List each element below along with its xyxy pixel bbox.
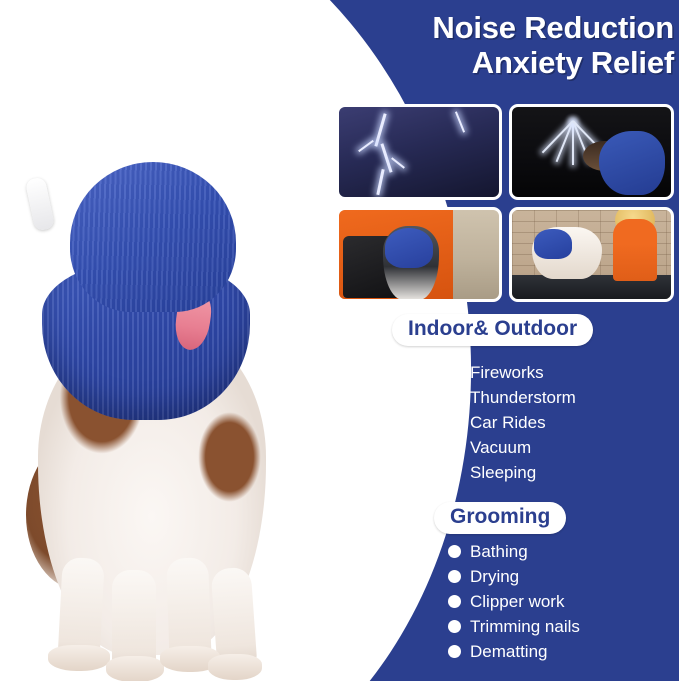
list-item: Car Rides	[448, 410, 576, 435]
dog-snood	[385, 228, 433, 268]
headline-line-2: Anxiety Relief	[330, 45, 674, 80]
list-item-label: Sleeping	[470, 460, 536, 485]
bullet-icon	[448, 545, 461, 558]
bullet-icon	[448, 595, 461, 608]
list-item-label: Drying	[470, 564, 519, 589]
indoor-outdoor-list: Fireworks Thunderstorm Car Rides Vacuum …	[448, 360, 576, 485]
bullet-icon	[448, 570, 461, 583]
bullet-icon	[448, 416, 461, 429]
snood-hood	[70, 162, 236, 312]
list-item-label: Bathing	[470, 539, 528, 564]
lightning-photo	[336, 104, 502, 200]
bullet-icon	[448, 620, 461, 633]
grooming-list: Bathing Drying Clipper work Trimming nai…	[448, 539, 580, 664]
lightning-bolt-icon	[455, 111, 465, 132]
lightning-bolt-icon	[358, 140, 374, 152]
list-item-label: Thunderstorm	[470, 385, 576, 410]
list-item: Drying	[448, 564, 580, 589]
bullet-icon	[448, 466, 461, 479]
fireworks-photo	[509, 104, 675, 200]
dog-snood	[599, 131, 665, 195]
list-item: Thunderstorm	[448, 385, 576, 410]
product-poster: Noise Reduction Anxiety Relief	[0, 0, 679, 681]
list-item: Clipper work	[448, 589, 580, 614]
bullet-icon	[448, 366, 461, 379]
grooming-photo	[509, 207, 675, 303]
list-item: Sleeping	[448, 460, 576, 485]
list-item: Vacuum	[448, 435, 576, 460]
list-item-label: Clipper work	[470, 589, 564, 614]
list-item: Trimming nails	[448, 614, 580, 639]
list-item-label: Fireworks	[470, 360, 544, 385]
dog-wearing-snood-photo	[8, 140, 318, 670]
lightning-bolt-icon	[391, 157, 405, 168]
dog-paw	[208, 654, 262, 680]
spark-ray	[541, 120, 573, 153]
list-item: Fireworks	[448, 360, 576, 385]
snood-brand-tag	[25, 176, 55, 231]
spark-ray	[572, 121, 574, 165]
use-case-photo-grid	[336, 104, 674, 302]
list-item-label: Trimming nails	[470, 614, 580, 639]
list-item-label: Car Rides	[470, 410, 546, 435]
list-item-label: Vacuum	[470, 435, 531, 460]
badge-grooming: Grooming	[434, 502, 566, 534]
headline: Noise Reduction Anxiety Relief	[330, 10, 674, 80]
list-item: Dematting	[448, 639, 580, 664]
lightning-bolt-icon	[376, 169, 384, 195]
badge-indoor-outdoor: Indoor& Outdoor	[392, 314, 593, 346]
bullet-icon	[448, 441, 461, 454]
bullet-icon	[448, 645, 461, 658]
dog-snood	[534, 229, 572, 259]
groomer-person	[613, 219, 657, 281]
list-item-label: Dematting	[470, 639, 547, 664]
dog-paw	[48, 645, 110, 671]
dog-paw	[106, 656, 164, 681]
lightning-bolt-icon	[374, 113, 386, 147]
bullet-icon	[448, 391, 461, 404]
headline-line-1: Noise Reduction	[330, 10, 674, 45]
list-item: Bathing	[448, 539, 580, 564]
car-ride-photo	[336, 207, 502, 303]
